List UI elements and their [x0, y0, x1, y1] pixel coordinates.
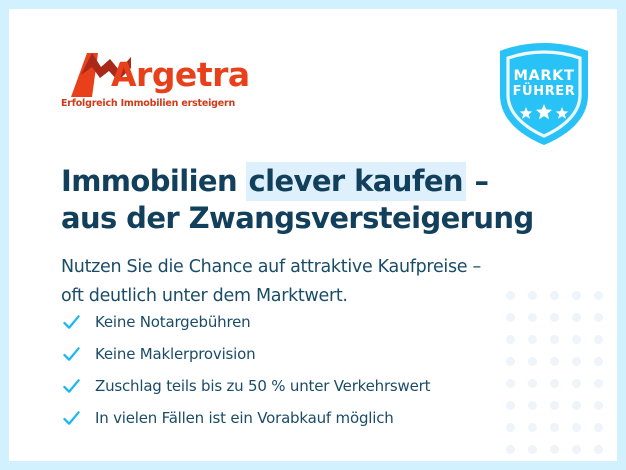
- dot: [506, 335, 515, 344]
- list-item-label: Keine Maklerprovision: [95, 345, 255, 363]
- banner-canvas: Argetra Erfolgreich Immobilien ersteiger…: [9, 9, 617, 461]
- dot: [550, 445, 559, 454]
- list-item: In vielen Fällen ist ein Vorabkauf mögli…: [62, 402, 430, 434]
- dot: [550, 423, 559, 432]
- dot: [594, 335, 603, 344]
- list-item-label: Keine Notargebühren: [95, 313, 250, 331]
- dot: [594, 313, 603, 322]
- dot: [506, 357, 515, 366]
- dot: [572, 357, 581, 366]
- dot: [594, 423, 603, 432]
- dot: [572, 423, 581, 432]
- dot: [528, 379, 537, 388]
- dot: [550, 313, 559, 322]
- check-icon: [62, 377, 81, 396]
- star-icon-group: [516, 103, 572, 121]
- dot: [594, 291, 603, 300]
- subheading-line-1: Nutzen Sie die Chance auf attraktive Kau…: [61, 257, 481, 277]
- market-leader-badge: MARKT FÜHRER: [496, 41, 592, 147]
- badge-star-row: [496, 103, 592, 121]
- headline-suffix: –: [465, 164, 488, 198]
- check-icon: [62, 409, 81, 428]
- dot: [594, 401, 603, 410]
- dot: [572, 401, 581, 410]
- headline-highlight: clever kaufen: [246, 162, 466, 201]
- dot: [528, 423, 537, 432]
- subheading: Nutzen Sie die Chance auf attraktive Kau…: [61, 253, 481, 311]
- subheading-line-2: oft deutlich unter dem Marktwert.: [61, 286, 348, 306]
- dot: [550, 357, 559, 366]
- list-item: Keine Notargebühren: [62, 306, 430, 338]
- dot: [528, 313, 537, 322]
- dot: [594, 445, 603, 454]
- page-title: Immobilien clever kaufen – aus der Zwang…: [61, 163, 534, 237]
- dot: [572, 445, 581, 454]
- check-icon: [62, 313, 81, 332]
- dot: [506, 423, 515, 432]
- dot: [528, 291, 537, 300]
- dot: [550, 401, 559, 410]
- check-icon: [62, 345, 81, 364]
- shield-badge-icon: [496, 41, 592, 147]
- dot: [594, 379, 603, 388]
- dot: [506, 445, 515, 454]
- logo-top-row: Argetra: [61, 49, 261, 97]
- dot: [528, 401, 537, 410]
- dot: [506, 313, 515, 322]
- headline-line-1: Immobilien clever kaufen –: [61, 164, 488, 198]
- promo-banner: Argetra Erfolgreich Immobilien ersteiger…: [0, 0, 626, 470]
- argetra-logo[interactable]: Argetra Erfolgreich Immobilien ersteiger…: [61, 49, 261, 109]
- logo-wordmark: Argetra: [111, 55, 250, 95]
- dot: [572, 379, 581, 388]
- dot: [550, 335, 559, 344]
- dot: [506, 291, 515, 300]
- dot: [506, 401, 515, 410]
- dot: [528, 445, 537, 454]
- logo-tagline: Erfolgreich Immobilien ersteigern: [61, 98, 261, 109]
- dot: [572, 313, 581, 322]
- benefit-list: Keine Notargebühren Keine Maklerprovisio…: [62, 306, 430, 434]
- dot: [550, 291, 559, 300]
- list-item: Zuschlag teils bis zu 50 % unter Verkehr…: [62, 370, 430, 402]
- dot: [528, 357, 537, 366]
- dot: [506, 379, 515, 388]
- list-item-label: Zuschlag teils bis zu 50 % unter Verkehr…: [95, 377, 430, 395]
- dot: [572, 335, 581, 344]
- dot: [594, 357, 603, 366]
- dot: [550, 379, 559, 388]
- headline-line-2: aus der Zwangsversteigerung: [61, 201, 534, 235]
- headline-prefix: Immobilien: [61, 164, 247, 198]
- dot-grid-decoration: [500, 285, 610, 461]
- list-item-label: In vielen Fällen ist ein Vorabkauf mögli…: [95, 409, 394, 427]
- dot: [572, 291, 581, 300]
- dot: [528, 335, 537, 344]
- list-item: Keine Maklerprovision: [62, 338, 430, 370]
